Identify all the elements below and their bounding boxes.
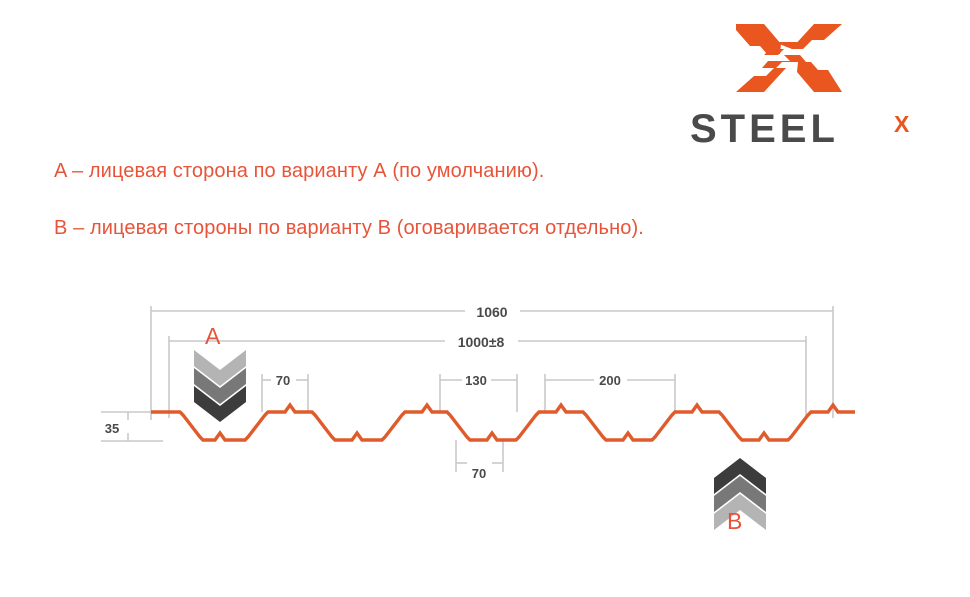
profile-technical-drawing: 1060 1000±8 70 130 200 70 35	[0, 0, 970, 597]
dimension-labels: 1060 1000±8 70 130 200 70 35	[105, 304, 621, 481]
dimension-label-trough-pitch: 130	[465, 373, 487, 388]
variant-b-label: B	[727, 508, 742, 535]
corrugated-profile-outline	[151, 405, 855, 440]
dimension-label-bottom-rib-width: 70	[472, 466, 486, 481]
dimension-label-corrugation-pitch: 200	[599, 373, 621, 388]
dimension-label-effective-width: 1000±8	[458, 334, 505, 350]
chevron-down-triple-icon	[192, 348, 248, 422]
page-root: STEEL X A – лицевая сторона по варианту …	[0, 0, 970, 597]
dimension-label-profile-height: 35	[105, 421, 119, 436]
dimension-label-overall-width: 1060	[476, 304, 507, 320]
variant-a-label: A	[205, 323, 220, 350]
dimension-label-top-rib-width: 70	[276, 373, 290, 388]
